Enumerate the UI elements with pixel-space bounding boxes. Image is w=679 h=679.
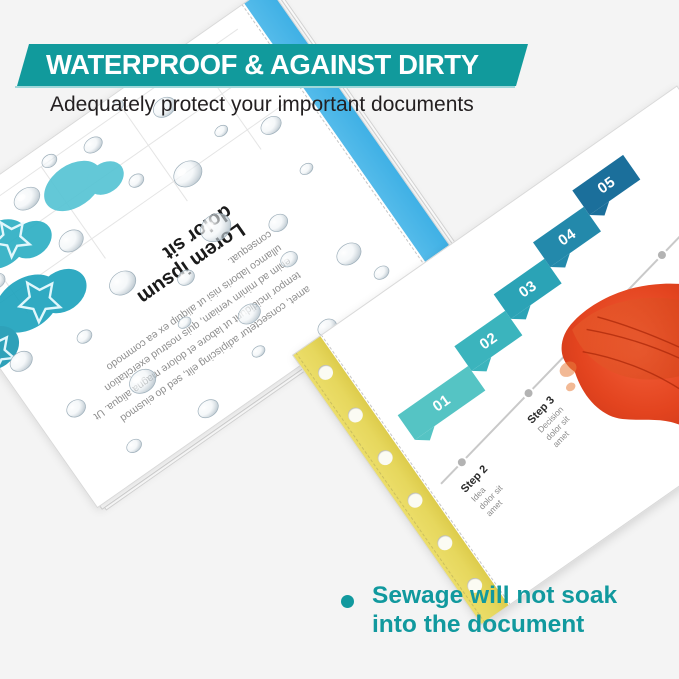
timeline-node	[520, 385, 537, 402]
sauce-spill-stain	[506, 196, 679, 528]
timeline-node	[453, 454, 470, 471]
timeline-node	[653, 247, 670, 264]
punch-hole	[434, 532, 455, 553]
step-label-2: Step 2 Idea dolor sit amet	[459, 431, 546, 519]
step-label-3: Step 3 Decision dolor sit amet	[525, 362, 612, 450]
step-number-01: 01	[429, 391, 453, 415]
product-marketing-image: Lorem ipsum dolor sit amet, consectetur …	[0, 0, 679, 679]
caption-line-1: Sewage will not soak	[372, 582, 671, 611]
headline-banner: WATERPROOF & AGAINST DIRTY	[17, 44, 528, 86]
feature-caption: Sewage will not soak into the document	[341, 582, 671, 640]
subtitle-text: Adequately protect your important docume…	[50, 93, 570, 117]
timeline-node	[587, 316, 604, 333]
step-number-05: 05	[594, 173, 618, 197]
punch-hole	[345, 405, 366, 426]
headline-underline	[15, 86, 515, 88]
punch-hole	[405, 490, 426, 511]
caption-line-2: into the document	[372, 611, 671, 640]
punch-hole	[315, 362, 336, 383]
headline-text: WATERPROOF & AGAINST DIRTY	[46, 49, 479, 81]
step-number-02: 02	[476, 329, 500, 353]
punch-hole	[375, 447, 396, 468]
step-number-03: 03	[516, 277, 540, 301]
step-flag-05: 05	[572, 155, 640, 215]
step-flag-01: 01	[398, 366, 486, 440]
step-number-04: 04	[555, 225, 579, 249]
